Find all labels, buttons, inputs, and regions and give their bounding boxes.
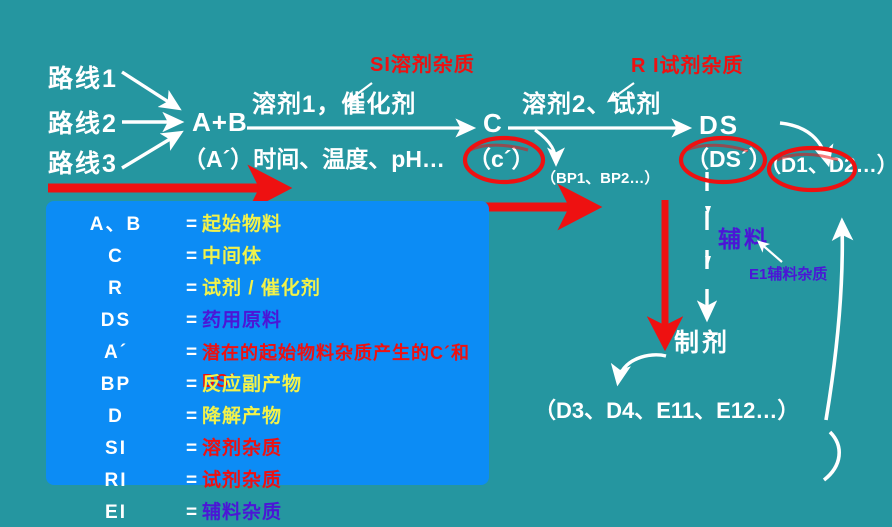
legend-equals: = — [186, 339, 197, 367]
legend-row: A´ = 潜在的起始物料杂质产生的C´和DS´ — [46, 339, 489, 367]
drug-product-label: 制剂 — [674, 331, 730, 356]
legend-equals: = — [186, 275, 197, 303]
degradants-feedback-arrow — [824, 222, 842, 480]
legend-value: 辅料杂质 — [202, 499, 282, 527]
legend-equals: = — [186, 467, 197, 495]
legend-key: EI — [46, 499, 186, 527]
legend-key: D — [46, 403, 186, 431]
legend-row: A、B = 起始物料 — [46, 211, 489, 239]
degradants-label: （D1、D2…） — [760, 155, 892, 176]
legend-row: R = 试剂 / 催化剂 — [46, 275, 489, 303]
step1-annotation-label: SI溶剂杂质 — [370, 55, 475, 75]
legend-row: SI = 溶剂杂质 — [46, 435, 489, 463]
step1-conditions-label: 溶剂1，催化剂 — [252, 93, 416, 117]
legend-value: 降解产物 — [202, 403, 282, 431]
legend-equals: = — [186, 499, 197, 527]
legend-key: C — [46, 243, 186, 271]
legend-key: R — [46, 275, 186, 303]
start-material-label: A+B — [192, 109, 248, 135]
legend-box: A、B = 起始物料 C = 中间体 R = 试剂 / 催化剂 DS = 药用原… — [46, 201, 489, 485]
legend-value: 药用原料 — [202, 307, 282, 335]
legend-equals: = — [186, 435, 197, 463]
legend-row: D = 降解产物 — [46, 403, 489, 431]
legend-value: 溶剂杂质 — [202, 435, 282, 463]
legend-equals: = — [186, 403, 197, 431]
legend-value: 试剂 / 催化剂 — [202, 275, 321, 303]
legend-key: BP — [46, 371, 186, 399]
legend-key: RI — [46, 467, 186, 495]
route-2-label: 路线2 — [48, 112, 118, 137]
diagram-canvas: 路线1 路线2 路线3 A+B （A´）时间、温度、pH… 溶剂1，催化剂 SI… — [0, 0, 892, 514]
legend-value: 起始物料 — [202, 211, 282, 239]
intermediate-impurity-label: （c´） — [468, 148, 534, 171]
legend-key: A´ — [46, 339, 186, 367]
legend-key: SI — [46, 435, 186, 463]
drug-substance-label: DS — [699, 112, 739, 138]
excipient-annotation-label: E1辅料杂质 — [749, 267, 827, 282]
byproducts-arrow — [535, 130, 556, 163]
route-1-arrow — [122, 72, 178, 108]
legend-equals: = — [186, 307, 197, 335]
legend-value: 中间体 — [202, 243, 262, 271]
legend-key: DS — [46, 307, 186, 335]
route-3-label: 路线3 — [48, 152, 118, 177]
legend-equals: = — [186, 243, 197, 271]
start-material-impurity-label: （A´）时间、温度、pH… — [183, 148, 445, 171]
legend-row: RI = 试剂杂质 — [46, 467, 489, 495]
legend-row: BP = 反应副产物 — [46, 371, 489, 399]
product-impurities-label: （D3、D4、E11、E12…） — [534, 400, 799, 422]
legend-row: DS = 药用原料 — [46, 307, 489, 335]
intermediate-label: C — [483, 110, 502, 136]
legend-value: 反应副产物 — [202, 371, 302, 399]
byproducts-label: （BP1、BP2…） — [541, 171, 659, 186]
step2-conditions-label: 溶剂2、试剂 — [522, 93, 661, 117]
product-impurities-arrow — [618, 355, 666, 382]
legend-equals: = — [186, 371, 197, 399]
excipient-label: 辅料 — [718, 228, 770, 251]
legend-key: A、B — [46, 211, 186, 239]
step2-annotation-label: R I试剂杂质 — [631, 56, 744, 76]
legend-equals: = — [186, 211, 197, 239]
drug-substance-impurity-label: （DS´） — [686, 148, 772, 171]
legend-row: C = 中间体 — [46, 243, 489, 271]
route-1-label: 路线1 — [48, 67, 118, 92]
legend-value: 试剂杂质 — [202, 467, 282, 495]
route-3-arrow — [122, 133, 180, 168]
drug-product-dashed-arrow — [705, 172, 711, 318]
legend-row: EI = 辅料杂质 — [46, 499, 489, 527]
